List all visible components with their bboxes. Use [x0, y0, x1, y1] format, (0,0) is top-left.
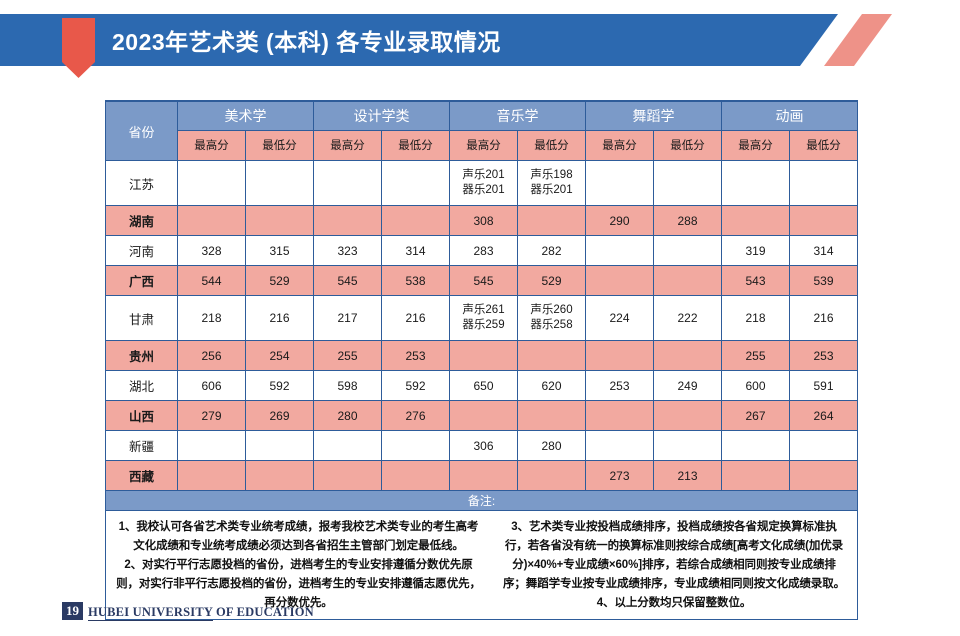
- page-header-banner: 2023年艺术类 (本科) 各专业录取情况: [0, 14, 960, 66]
- notes-title: 备注:: [106, 491, 858, 511]
- score-cell: 319: [722, 236, 790, 266]
- score-cell: 声乐260器乐258: [518, 296, 586, 341]
- score-cell: 308: [450, 206, 518, 236]
- banner-red-ribbon-icon: [62, 18, 95, 78]
- score-cell: 620: [518, 371, 586, 401]
- score-cell: [314, 206, 382, 236]
- subheader-min-0: 最低分: [246, 130, 314, 160]
- row-province-label: 湖南: [106, 206, 178, 236]
- score-cell: [586, 341, 654, 371]
- score-cell: [178, 461, 246, 491]
- table-row: 湖北606592598592650620253249600591: [106, 371, 858, 401]
- banner-pink-stripe: [824, 14, 892, 66]
- score-cell: 592: [246, 371, 314, 401]
- note-item-1: 1、我校认可各省艺术类专业统考成绩，报考我校艺术类专业的考生高考文化成绩和专业统…: [116, 518, 481, 556]
- page-number: 19: [62, 602, 83, 620]
- admission-score-table: 省份 美术学 设计学类 音乐学 舞蹈学 动画 最高分 最低分 最高分 最低分 最…: [105, 100, 858, 620]
- subheader-max-4: 最高分: [722, 130, 790, 160]
- score-cell: [450, 401, 518, 431]
- score-cell: 254: [246, 341, 314, 371]
- score-cell: [654, 266, 722, 296]
- score-cell: 314: [382, 236, 450, 266]
- institution-name: HUBEI UNIVERSITY OF EDUCATION: [88, 605, 314, 620]
- score-cell: [246, 461, 314, 491]
- score-cell: 592: [382, 371, 450, 401]
- score-cell: 543: [722, 266, 790, 296]
- column-group-yinyuexue: 音乐学: [450, 101, 586, 130]
- score-cell: [654, 341, 722, 371]
- score-cell: 声乐201器乐201: [450, 161, 518, 206]
- score-cell: [178, 206, 246, 236]
- institution-name-part2: OF EDUCATION: [216, 605, 314, 619]
- score-cell: 529: [518, 266, 586, 296]
- score-cell: 264: [790, 401, 858, 431]
- subheader-max-2: 最高分: [450, 130, 518, 160]
- row-province-label: 广西: [106, 266, 178, 296]
- score-cell: 544: [178, 266, 246, 296]
- subheader-min-4: 最低分: [790, 130, 858, 160]
- row-province-label: 贵州: [106, 341, 178, 371]
- subheader-min-1: 最低分: [382, 130, 450, 160]
- score-cell: [382, 206, 450, 236]
- score-table-container: 省份 美术学 设计学类 音乐学 舞蹈学 动画 最高分 最低分 最高分 最低分 最…: [105, 100, 857, 620]
- score-cell: [382, 161, 450, 206]
- table-row: 广西544529545538545529543539: [106, 266, 858, 296]
- notes-column-right: 3、艺术类专业按投档成绩排序，投档成绩按各省规定换算标准执行，若各省没有统一的换…: [491, 511, 857, 619]
- score-cell: 538: [382, 266, 450, 296]
- score-cell: 224: [586, 296, 654, 341]
- score-cell: [246, 431, 314, 461]
- table-header-row-subheaders: 最高分 最低分 最高分 最低分 最高分 最低分 最高分 最低分 最高分 最低分: [106, 130, 858, 160]
- score-cell: 222: [654, 296, 722, 341]
- score-cell: [382, 431, 450, 461]
- score-cell: 328: [178, 236, 246, 266]
- score-cell: 282: [518, 236, 586, 266]
- subheader-min-2: 最低分: [518, 130, 586, 160]
- score-cell: [790, 461, 858, 491]
- score-cell: 280: [314, 401, 382, 431]
- score-cell: 600: [722, 371, 790, 401]
- subheader-max-0: 最高分: [178, 130, 246, 160]
- score-cell: [722, 206, 790, 236]
- score-cell: [314, 461, 382, 491]
- institution-name-part1: HUBEI UNIVERSITY: [88, 605, 213, 621]
- note-item-3: 3、艺术类专业按投档成绩排序，投档成绩按各省规定换算标准执行，若各省没有统一的换…: [501, 518, 847, 594]
- score-cell: [654, 431, 722, 461]
- score-cell: [586, 401, 654, 431]
- score-cell: 529: [246, 266, 314, 296]
- table-header: 省份 美术学 设计学类 音乐学 舞蹈学 动画 最高分 最低分 最高分 最低分 最…: [106, 101, 858, 161]
- table-row: 新疆306280: [106, 431, 858, 461]
- score-cell: [382, 461, 450, 491]
- score-cell: [586, 236, 654, 266]
- score-cell: 276: [382, 401, 450, 431]
- column-group-donghua: 动画: [722, 101, 858, 130]
- score-cell: 279: [178, 401, 246, 431]
- score-cell: 283: [450, 236, 518, 266]
- table-row: 湖南308290288: [106, 206, 858, 236]
- table-row: 甘肃218216217216声乐261器乐259声乐260器乐258224222…: [106, 296, 858, 341]
- score-cell: 声乐261器乐259: [450, 296, 518, 341]
- score-cell: [722, 461, 790, 491]
- score-cell: [246, 206, 314, 236]
- row-province-label: 新疆: [106, 431, 178, 461]
- score-cell: [450, 461, 518, 491]
- score-cell: [722, 161, 790, 206]
- page-title: 2023年艺术类 (本科) 各专业录取情况: [112, 14, 501, 66]
- score-cell: [586, 431, 654, 461]
- score-cell: [518, 401, 586, 431]
- table-row: 西藏273213: [106, 461, 858, 491]
- score-cell: [178, 161, 246, 206]
- table-header-row-groups: 省份 美术学 设计学类 音乐学 舞蹈学 动画: [106, 101, 858, 130]
- table-row: 山西279269280276267264: [106, 401, 858, 431]
- subheader-max-3: 最高分: [586, 130, 654, 160]
- score-cell: 591: [790, 371, 858, 401]
- note-item-4: 4、以上分数均只保留整数位。: [501, 594, 847, 613]
- score-cell: [314, 431, 382, 461]
- score-cell: 255: [722, 341, 790, 371]
- score-cell: [654, 161, 722, 206]
- row-province-label: 河南: [106, 236, 178, 266]
- score-cell: 598: [314, 371, 382, 401]
- column-group-wudaoxue: 舞蹈学: [586, 101, 722, 130]
- page-footer: 19 HUBEI UNIVERSITY OF EDUCATION: [62, 602, 314, 620]
- score-cell: 253: [586, 371, 654, 401]
- score-cell: [450, 341, 518, 371]
- score-cell: 253: [382, 341, 450, 371]
- column-group-meishuxue: 美术学: [178, 101, 314, 130]
- row-province-label: 甘肃: [106, 296, 178, 341]
- score-cell: 269: [246, 401, 314, 431]
- score-cell: 216: [790, 296, 858, 341]
- score-cell: 253: [790, 341, 858, 371]
- score-cell: [518, 206, 586, 236]
- score-cell: 声乐198器乐201: [518, 161, 586, 206]
- score-cell: 545: [450, 266, 518, 296]
- score-cell: 288: [654, 206, 722, 236]
- score-cell: [178, 431, 246, 461]
- notes-title-row: 备注:: [106, 491, 858, 511]
- score-cell: 216: [246, 296, 314, 341]
- score-cell: 249: [654, 371, 722, 401]
- score-cell: 650: [450, 371, 518, 401]
- score-cell: 606: [178, 371, 246, 401]
- score-cell: [314, 161, 382, 206]
- score-cell: [518, 341, 586, 371]
- score-cell: [586, 266, 654, 296]
- score-cell: [654, 236, 722, 266]
- subheader-min-3: 最低分: [654, 130, 722, 160]
- score-cell: 315: [246, 236, 314, 266]
- column-header-province: 省份: [106, 101, 178, 161]
- table-row: 河南328315323314283282319314: [106, 236, 858, 266]
- table-row: 贵州256254255253255253: [106, 341, 858, 371]
- score-cell: [246, 161, 314, 206]
- score-cell: 255: [314, 341, 382, 371]
- score-cell: [722, 431, 790, 461]
- table-body: 江苏声乐201器乐201声乐198器乐201湖南308290288河南32831…: [106, 161, 858, 491]
- score-cell: 306: [450, 431, 518, 461]
- column-group-shejixuelei: 设计学类: [314, 101, 450, 130]
- score-cell: 539: [790, 266, 858, 296]
- score-cell: [790, 206, 858, 236]
- score-cell: [790, 431, 858, 461]
- score-cell: 218: [178, 296, 246, 341]
- score-cell: 290: [586, 206, 654, 236]
- score-cell: 218: [722, 296, 790, 341]
- score-cell: 267: [722, 401, 790, 431]
- score-cell: [790, 161, 858, 206]
- score-cell: 256: [178, 341, 246, 371]
- row-province-label: 江苏: [106, 161, 178, 206]
- row-province-label: 湖北: [106, 371, 178, 401]
- score-cell: [518, 461, 586, 491]
- table-notes: 备注: 1、我校认可各省艺术类专业统考成绩，报考我校艺术类专业的考生高考文化成绩…: [106, 491, 858, 620]
- score-cell: [586, 161, 654, 206]
- score-cell: 545: [314, 266, 382, 296]
- score-cell: 280: [518, 431, 586, 461]
- score-cell: 216: [382, 296, 450, 341]
- row-province-label: 西藏: [106, 461, 178, 491]
- score-cell: 213: [654, 461, 722, 491]
- score-cell: 273: [586, 461, 654, 491]
- score-cell: 217: [314, 296, 382, 341]
- score-cell: 314: [790, 236, 858, 266]
- table-row: 江苏声乐201器乐201声乐198器乐201: [106, 161, 858, 206]
- score-cell: 323: [314, 236, 382, 266]
- score-cell: [654, 401, 722, 431]
- subheader-max-1: 最高分: [314, 130, 382, 160]
- row-province-label: 山西: [106, 401, 178, 431]
